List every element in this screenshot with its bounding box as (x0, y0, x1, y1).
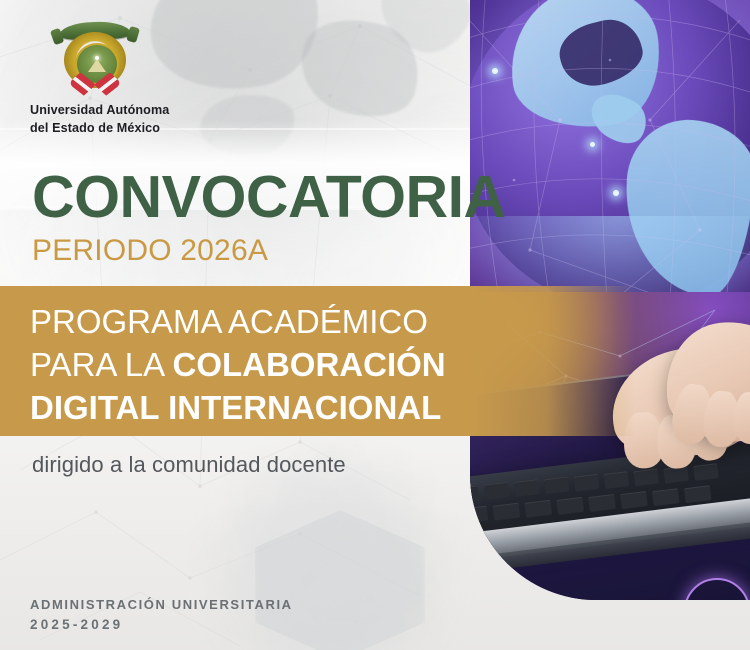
page-subtitle: PERIODO 2026A (32, 236, 506, 266)
audience-text: dirigido a la comunidad docente (32, 452, 346, 478)
program-line-1-text: PROGRAMA ACADÉMICO (30, 303, 428, 340)
program-line-3-emphasis: DIGITAL INTERNACIONAL (30, 389, 441, 426)
program-banner-text: PROGRAMA ACADÉMICO PARA LA COLABORACIÓN … (30, 300, 635, 430)
university-name-line1: Universidad Autónoma (30, 102, 210, 120)
program-line-2-prefix: PARA LA (30, 346, 172, 383)
page-title: CONVOCATORIA (32, 168, 506, 227)
star-glow (492, 68, 498, 74)
administration-footer: ADMINISTRACIÓN UNIVERSITARIA 2025-2029 (30, 596, 293, 634)
program-line-1: PROGRAMA ACADÉMICO (30, 300, 635, 343)
headline-block: CONVOCATORIA PERIODO 2026A (32, 168, 506, 266)
star-glow (590, 142, 595, 147)
program-line-2: PARA LA COLABORACIÓN (30, 343, 635, 386)
poster-canvas: Universidad Autónoma del Estado de Méxic… (0, 0, 750, 650)
uaem-coat-of-arms-icon (58, 18, 132, 94)
university-logo: Universidad Autónoma del Estado de Méxic… (30, 18, 210, 138)
star-glow (613, 190, 619, 196)
crest-pyramid-glyph (88, 59, 106, 72)
program-line-3: DIGITAL INTERNACIONAL (30, 386, 635, 429)
program-banner: PROGRAMA ACADÉMICO PARA LA COLABORACIÓN … (0, 286, 635, 436)
administration-period: 2025-2029 (30, 615, 293, 635)
university-name-line2: del Estado de México (30, 120, 210, 138)
administration-label: ADMINISTRACIÓN UNIVERSITARIA (30, 596, 293, 615)
program-line-2-emphasis: COLABORACIÓN (172, 346, 445, 383)
university-name: Universidad Autónoma del Estado de Méxic… (30, 102, 210, 138)
